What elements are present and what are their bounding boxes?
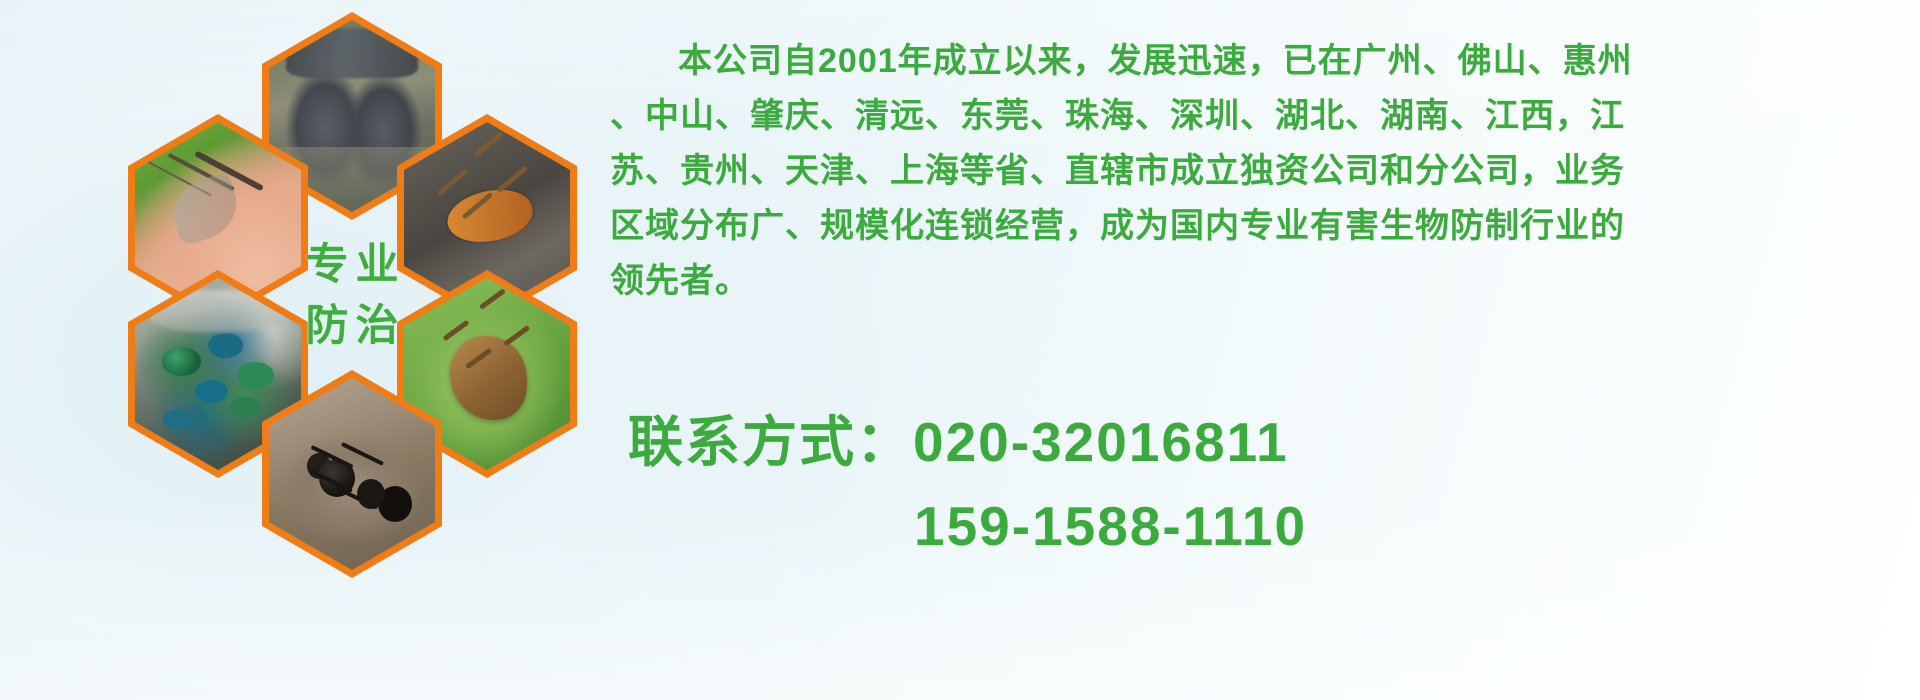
intro-line: 区域分布广、规模化连锁经营，成为国内专业有害生物防制行业的 bbox=[610, 199, 1910, 254]
promo-banner: 专业 防治 本公司自2001年成立以来，发展迅速，已在广州、佛山、惠州 、中山、… bbox=[0, 0, 1920, 700]
intro-line: 本公司自2001年成立以来，发展迅速，已在广州、佛山、惠州 bbox=[610, 34, 1910, 89]
slogan-line-2: 防治 bbox=[299, 305, 406, 348]
contact-secondary-phone[interactable]: 159-1588-1110 bbox=[628, 484, 1908, 568]
company-intro-paragraph: 本公司自2001年成立以来，发展迅速，已在广州、佛山、惠州 、中山、肇庆、清远、… bbox=[610, 34, 1910, 309]
hexagon-image-cluster: 专业 防治 bbox=[110, 12, 580, 572]
hex-inner-ant bbox=[269, 378, 435, 570]
intro-line: 领先者。 bbox=[610, 254, 1910, 309]
slogan-line-1: 专业 bbox=[299, 244, 406, 287]
ant-photo-icon bbox=[269, 378, 435, 570]
contact-block: 联系方式：020-32016811 159-1588-1110 bbox=[628, 400, 1908, 568]
contact-primary-phone[interactable]: 联系方式：020-32016811 bbox=[628, 400, 1908, 484]
intro-line: 、中山、肇庆、清远、东莞、珠海、深圳、湖北、湖南、江西，江 bbox=[610, 89, 1910, 144]
content-column: 本公司自2001年成立以来，发展迅速，已在广州、佛山、惠州 、中山、肇庆、清远、… bbox=[610, 0, 1920, 700]
intro-line: 苏、贵州、天津、上海等省、直辖市成立独资公司和分公司，业务 bbox=[610, 144, 1910, 199]
